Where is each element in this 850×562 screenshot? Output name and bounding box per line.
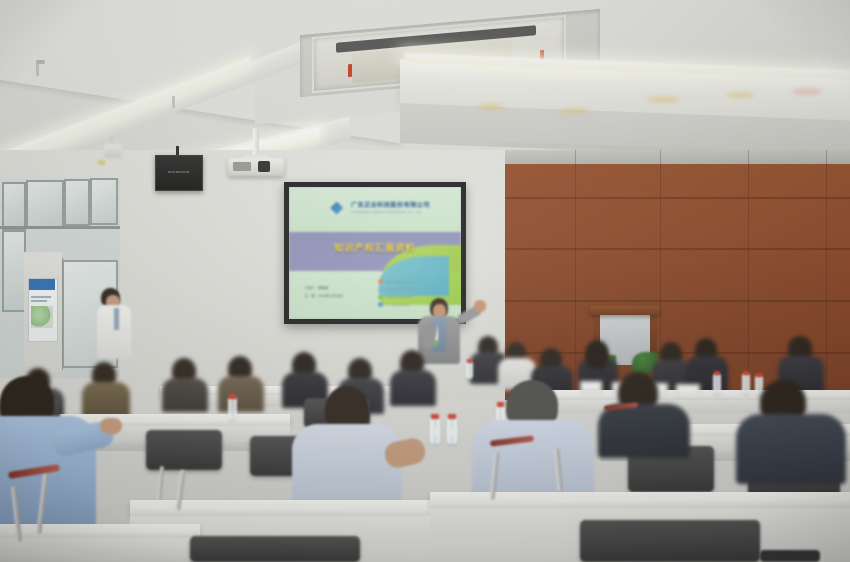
ceiling-stain <box>560 108 590 114</box>
glass-pane <box>26 180 64 228</box>
water-bottle[interactable] <box>228 398 237 420</box>
bullet-label: 公司知识产权工作现状 <box>386 287 414 291</box>
bottle-cap <box>229 394 236 399</box>
wood-seam <box>505 197 850 199</box>
speaker-brand-label: SOUNDKING <box>168 170 190 174</box>
bottle-cap <box>467 359 472 363</box>
bullet-label: 专利申请流程与规范 <box>386 295 412 299</box>
desk-front-panel <box>0 538 200 562</box>
wood-seam <box>826 150 827 412</box>
bottle-cap <box>714 371 720 375</box>
wall-top-trim <box>505 150 850 164</box>
glass-pane <box>64 179 90 226</box>
notice-text-line <box>31 300 47 302</box>
audience-body <box>292 424 402 510</box>
slide-header-band <box>289 187 461 232</box>
bullet-dot-icon <box>378 287 383 292</box>
bullet-dot-icon <box>378 302 383 307</box>
list-item: 专利申请流程与规范 <box>378 295 455 300</box>
water-bottle[interactable] <box>742 374 750 394</box>
audience-hand <box>100 418 122 434</box>
bullet-dot-icon <box>378 279 383 284</box>
list-item: 公司知识产权工作现状 <box>378 287 455 292</box>
bottle-cap <box>497 402 504 407</box>
wood-seam <box>505 300 850 302</box>
slide-company-name-cn: 广东正业科技股份有限公司 <box>351 200 430 209</box>
bottle-label <box>430 428 440 436</box>
ceiling-stain <box>792 88 822 95</box>
glass-pane <box>90 178 118 225</box>
chair[interactable] <box>146 430 222 470</box>
glass-mullion <box>0 226 120 229</box>
water-bottle[interactable] <box>713 374 721 394</box>
projector-vent <box>233 162 251 171</box>
wall-fan <box>104 144 122 158</box>
ac-pull-tag <box>348 64 352 77</box>
audience-head <box>586 344 608 369</box>
notice-text-line <box>31 296 51 298</box>
notice-graphic <box>31 306 53 328</box>
ceiling-hanger <box>36 62 39 76</box>
ceiling-stain <box>478 103 504 110</box>
presenter-hand <box>474 300 486 312</box>
conference-room-photo: SOUNDKING 广东正业科技股份有限公司 GUANGDONG ZHENGYE… <box>0 0 850 562</box>
glass-pane <box>2 230 26 312</box>
wood-seam <box>575 150 576 412</box>
projector-pole <box>253 128 259 158</box>
chair[interactable] <box>580 520 760 562</box>
slide-title: 知识产权汇报资料 <box>289 241 461 254</box>
audience-body <box>218 376 264 412</box>
chair-back <box>760 550 820 562</box>
name-card <box>676 384 700 397</box>
audience-body <box>736 414 846 484</box>
ceiling-stain <box>726 92 754 98</box>
audience-body <box>162 378 208 412</box>
slide-presenter-line: 汇报人：黄锦威 <box>304 285 328 290</box>
projector-lens <box>258 161 270 172</box>
bottle-label <box>447 428 457 436</box>
audience-body <box>82 382 130 418</box>
wood-seam <box>505 248 850 250</box>
bottle-cap <box>743 371 749 375</box>
ceiling-hanger <box>172 96 175 108</box>
bullet-label: 知识产权基本概念介绍 <box>386 280 414 284</box>
bottle-cap <box>448 414 456 419</box>
wall-socket <box>98 160 105 165</box>
bullet-dot-icon <box>378 295 383 300</box>
chair[interactable] <box>190 536 360 562</box>
bottle-cap <box>431 414 439 419</box>
audience-body <box>390 370 436 406</box>
name-card <box>580 381 602 393</box>
bottle-cap <box>756 373 762 377</box>
wooden-lectern <box>590 306 660 315</box>
ceiling-hanger-plate <box>36 60 45 64</box>
bullet-label: 下一阶段工作计划 <box>386 303 409 307</box>
water-bottle[interactable] <box>466 362 473 379</box>
slide-date-line: 日 期：2016年11月18日 <box>304 293 343 298</box>
desk <box>0 524 200 538</box>
list-item: 知识产权基本概念介绍 <box>378 279 455 284</box>
standing-attendee-tie <box>114 308 119 330</box>
glass-pane <box>2 182 26 230</box>
ceiling-stain <box>646 96 680 103</box>
notice-header-band <box>29 279 55 290</box>
slide-company-name-en: GUANGDONG ZHENGYE TECHNOLOGY CO., LTD. <box>351 211 422 214</box>
audience-body <box>598 404 690 458</box>
